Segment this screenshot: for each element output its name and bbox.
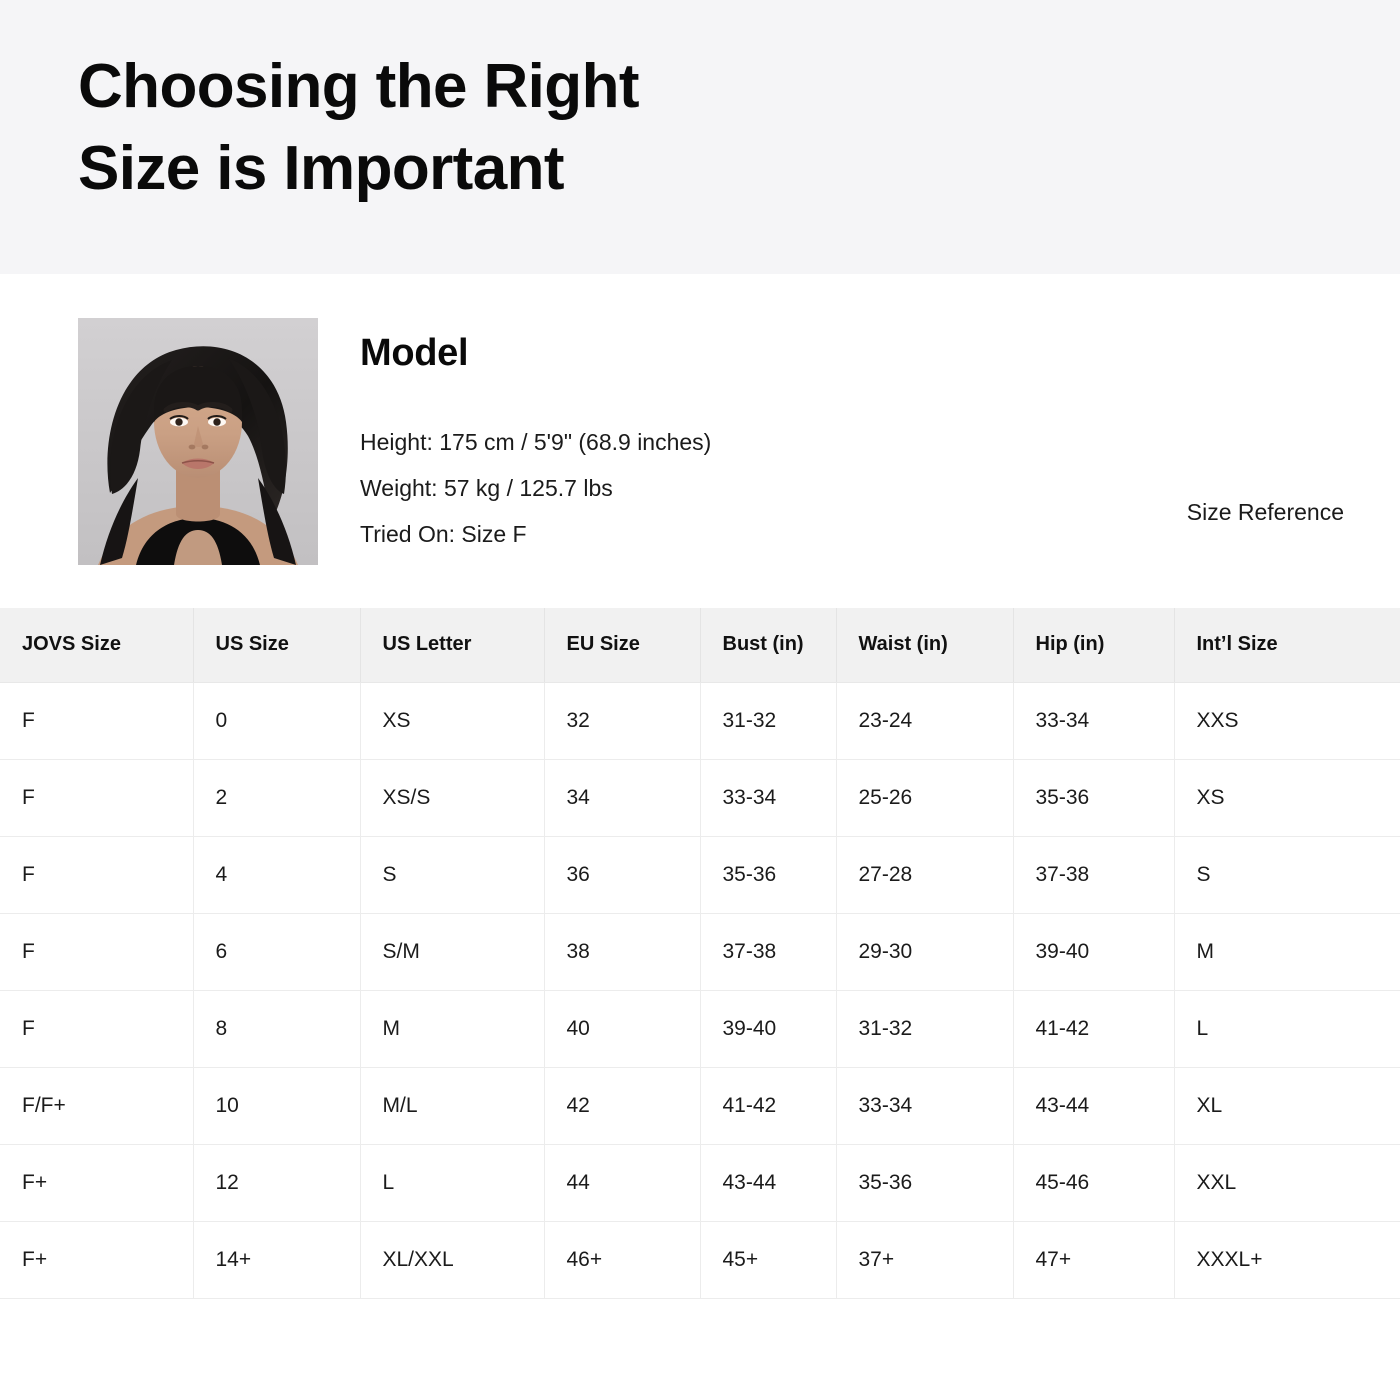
- cell-waist: 33-34: [836, 1067, 1013, 1144]
- page-title: Choosing the Right Size is Important: [78, 46, 1400, 210]
- cell-us-letter: S/M: [360, 913, 544, 990]
- cell-us-letter: S: [360, 836, 544, 913]
- cell-us-size: 4: [193, 836, 360, 913]
- cell-us-size: 0: [193, 682, 360, 759]
- cell-bust: 33-34: [700, 759, 836, 836]
- cell-us-letter: XS: [360, 682, 544, 759]
- cell-waist: 27-28: [836, 836, 1013, 913]
- column-header-jovs-size: JOVS Size: [0, 608, 193, 682]
- cell-waist: 35-36: [836, 1144, 1013, 1221]
- column-header-hip: Hip (in): [1013, 608, 1174, 682]
- cell-hip: 39-40: [1013, 913, 1174, 990]
- column-header-us-size: US Size: [193, 608, 360, 682]
- cell-waist: 37+: [836, 1221, 1013, 1298]
- cell-intl-size: S: [1174, 836, 1400, 913]
- cell-waist: 25-26: [836, 759, 1013, 836]
- cell-bust: 41-42: [700, 1067, 836, 1144]
- cell-hip: 37-38: [1013, 836, 1174, 913]
- cell-hip: 45-46: [1013, 1144, 1174, 1221]
- cell-eu-size: 44: [544, 1144, 700, 1221]
- table-body: F0XS3231-3223-2433-34XXSF2XS/S3433-3425-…: [0, 682, 1400, 1298]
- cell-eu-size: 40: [544, 990, 700, 1067]
- cell-eu-size: 34: [544, 759, 700, 836]
- model-info: Model Height: 175 cm / 5'9" (68.9 inches…: [360, 318, 711, 557]
- cell-us-letter: XS/S: [360, 759, 544, 836]
- model-height: Height: 175 cm / 5'9" (68.9 inches): [360, 419, 711, 465]
- cell-waist: 31-32: [836, 990, 1013, 1067]
- table-row: F/F+10M/L4241-4233-3443-44XL: [0, 1067, 1400, 1144]
- cell-bust: 39-40: [700, 990, 836, 1067]
- model-heading: Model: [360, 332, 711, 375]
- table-row: F2XS/S3433-3425-2635-36XS: [0, 759, 1400, 836]
- cell-hip: 35-36: [1013, 759, 1174, 836]
- cell-bust: 37-38: [700, 913, 836, 990]
- cell-waist: 23-24: [836, 682, 1013, 759]
- cell-intl-size: XXS: [1174, 682, 1400, 759]
- cell-jovs-size: F: [0, 836, 193, 913]
- column-header-us-letter: US Letter: [360, 608, 544, 682]
- cell-bust: 45+: [700, 1221, 836, 1298]
- table-row: F8M4039-4031-3241-42L: [0, 990, 1400, 1067]
- size-chart-table-wrapper: JOVS Size US Size US Letter EU Size Bust…: [0, 608, 1400, 1299]
- hero-banner: Choosing the Right Size is Important: [0, 0, 1400, 274]
- model-photo: [78, 318, 318, 565]
- cell-waist: 29-30: [836, 913, 1013, 990]
- cell-us-size: 12: [193, 1144, 360, 1221]
- model-weight: Weight: 57 kg / 125.7 lbs: [360, 465, 711, 511]
- cell-eu-size: 32: [544, 682, 700, 759]
- cell-intl-size: L: [1174, 990, 1400, 1067]
- model-section: Model Height: 175 cm / 5'9" (68.9 inches…: [0, 274, 1400, 608]
- cell-eu-size: 38: [544, 913, 700, 990]
- cell-us-size: 14+: [193, 1221, 360, 1298]
- cell-eu-size: 42: [544, 1067, 700, 1144]
- cell-us-letter: M: [360, 990, 544, 1067]
- cell-hip: 33-34: [1013, 682, 1174, 759]
- cell-jovs-size: F: [0, 913, 193, 990]
- column-header-waist: Waist (in): [836, 608, 1013, 682]
- cell-eu-size: 46+: [544, 1221, 700, 1298]
- cell-bust: 43-44: [700, 1144, 836, 1221]
- size-reference-label: Size Reference: [1187, 499, 1344, 526]
- cell-us-letter: XL/XXL: [360, 1221, 544, 1298]
- cell-intl-size: XXL: [1174, 1144, 1400, 1221]
- column-header-bust: Bust (in): [700, 608, 836, 682]
- model-portrait-icon: [78, 318, 318, 565]
- cell-jovs-size: F+: [0, 1144, 193, 1221]
- cell-eu-size: 36: [544, 836, 700, 913]
- cell-us-size: 10: [193, 1067, 360, 1144]
- cell-us-letter: M/L: [360, 1067, 544, 1144]
- cell-intl-size: XS: [1174, 759, 1400, 836]
- cell-bust: 31-32: [700, 682, 836, 759]
- cell-hip: 41-42: [1013, 990, 1174, 1067]
- table-header-row: JOVS Size US Size US Letter EU Size Bust…: [0, 608, 1400, 682]
- cell-hip: 47+: [1013, 1221, 1174, 1298]
- cell-intl-size: M: [1174, 913, 1400, 990]
- cell-jovs-size: F: [0, 759, 193, 836]
- table-row: F6S/M3837-3829-3039-40M: [0, 913, 1400, 990]
- cell-us-size: 6: [193, 913, 360, 990]
- table-row: F0XS3231-3223-2433-34XXS: [0, 682, 1400, 759]
- cell-us-size: 8: [193, 990, 360, 1067]
- table-row: F+14+XL/XXL46+45+37+47+XXXL+: [0, 1221, 1400, 1298]
- cell-intl-size: XXXL+: [1174, 1221, 1400, 1298]
- cell-intl-size: XL: [1174, 1067, 1400, 1144]
- column-header-eu-size: EU Size: [544, 608, 700, 682]
- cell-jovs-size: F+: [0, 1221, 193, 1298]
- cell-bust: 35-36: [700, 836, 836, 913]
- cell-jovs-size: F/F+: [0, 1067, 193, 1144]
- cell-jovs-size: F: [0, 990, 193, 1067]
- cell-jovs-size: F: [0, 682, 193, 759]
- table-row: F+12L4443-4435-3645-46XXL: [0, 1144, 1400, 1221]
- cell-us-size: 2: [193, 759, 360, 836]
- cell-hip: 43-44: [1013, 1067, 1174, 1144]
- size-chart-table: JOVS Size US Size US Letter EU Size Bust…: [0, 608, 1400, 1299]
- column-header-intl-size: Int’l Size: [1174, 608, 1400, 682]
- table-row: F4S3635-3627-2837-38S: [0, 836, 1400, 913]
- model-tried-on: Tried On: Size F: [360, 511, 711, 557]
- cell-us-letter: L: [360, 1144, 544, 1221]
